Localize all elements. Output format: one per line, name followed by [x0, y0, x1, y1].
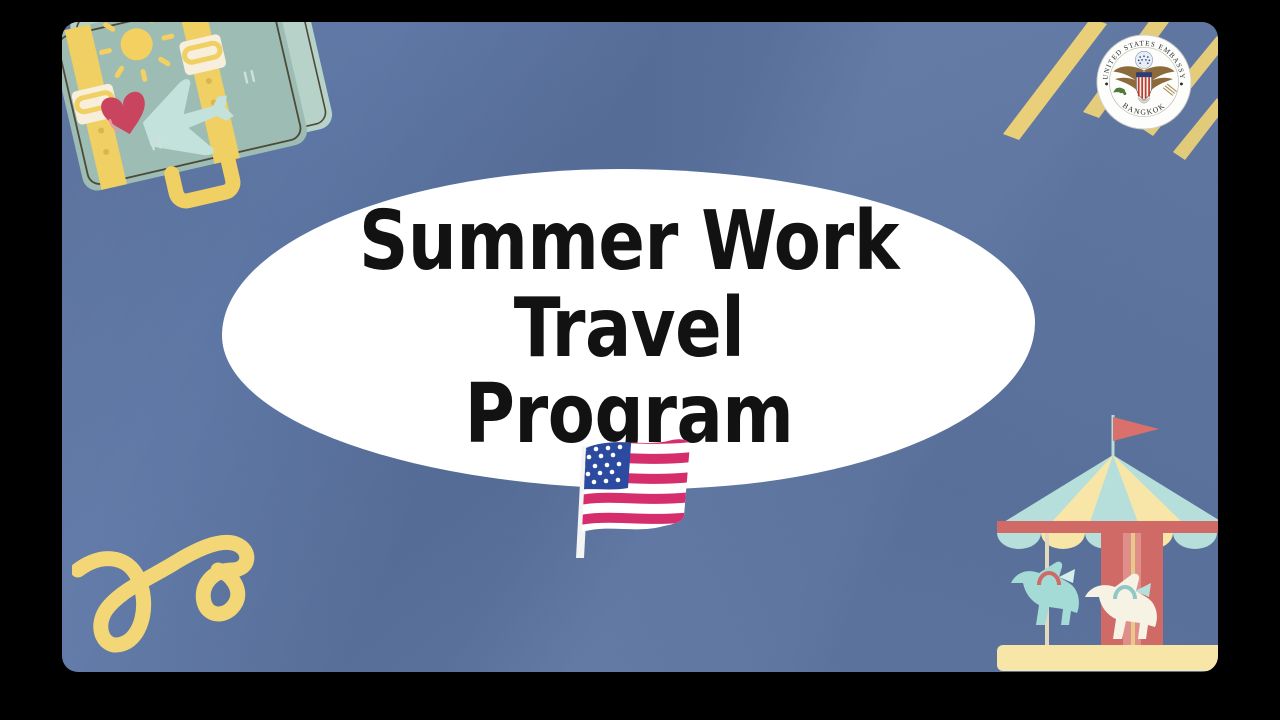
presentation-slide: UNITED STATES EMBASSY BANGKOK [62, 22, 1218, 672]
carousel-icon [989, 407, 1218, 672]
slide-stage: UNITED STATES EMBASSY BANGKOK [0, 0, 1280, 720]
carousel-horse-icon [1011, 562, 1079, 625]
squiggle-doodle-icon [72, 504, 322, 664]
carousel-flag-icon [1113, 417, 1159, 441]
us-flag-icon [558, 430, 708, 570]
title-line-1: Summer Work Travel [358, 194, 898, 376]
us-embassy-seal-icon: UNITED STATES EMBASSY BANGKOK [1096, 34, 1192, 130]
page-title: Summer Work Travel Program [281, 199, 977, 460]
